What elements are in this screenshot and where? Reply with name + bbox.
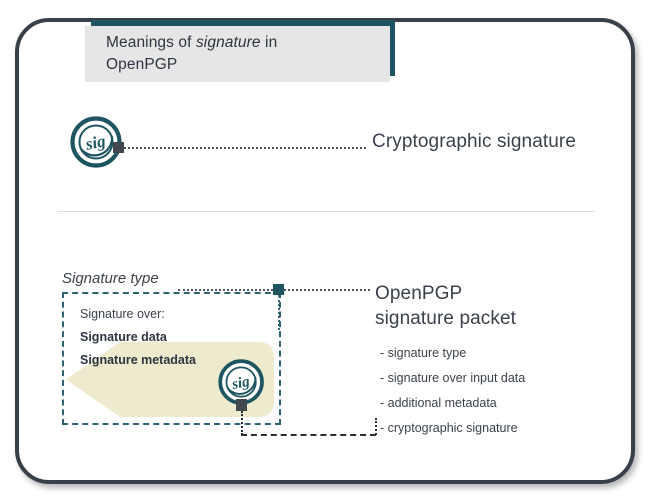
sig-seal-tab-top bbox=[113, 142, 124, 153]
title-emphasis: signature bbox=[196, 34, 261, 51]
connector-packet-right bbox=[241, 434, 376, 436]
connector-packet-up bbox=[375, 418, 377, 435]
packet-item: - cryptographic signature bbox=[380, 416, 525, 441]
box-line-2: Signature metadata bbox=[80, 349, 196, 372]
title-prefix: Meanings of bbox=[106, 34, 196, 51]
sig-seal-tab-bottom bbox=[236, 399, 247, 411]
packet-item-list: - signature type - signature over input … bbox=[380, 341, 525, 441]
packet-title: OpenPGP signature packet bbox=[375, 281, 516, 332]
connector-packet-down bbox=[241, 411, 243, 435]
connector-node-down bbox=[278, 295, 280, 330]
packet-item: - signature type bbox=[380, 341, 525, 366]
box-line-1: Signature data bbox=[80, 326, 196, 349]
label-signature-type: Signature type bbox=[62, 270, 159, 287]
connector-node-square bbox=[273, 284, 284, 295]
label-cryptographic-signature: Cryptographic signature bbox=[372, 131, 576, 153]
packet-item: - signature over input data bbox=[380, 366, 525, 391]
box-line-0: Signature over: bbox=[80, 303, 196, 326]
page-title: Meanings of signature in OpenPGP bbox=[85, 32, 277, 76]
section-divider bbox=[58, 211, 595, 212]
packet-title-line1: OpenPGP bbox=[375, 283, 462, 304]
signature-box-text: Signature over: Signature data Signature… bbox=[80, 303, 196, 372]
title-suffix: in bbox=[261, 34, 278, 51]
connector-node-left bbox=[178, 289, 273, 291]
packet-item: - additional metadata bbox=[380, 391, 525, 416]
svg-text:sig: sig bbox=[83, 131, 108, 154]
title-box: Meanings of signature in OpenPGP bbox=[85, 26, 390, 82]
connector-node-right bbox=[284, 289, 370, 291]
title-line2: OpenPGP bbox=[106, 56, 177, 73]
slide-canvas: Meanings of signature in OpenPGP sig Cry… bbox=[0, 0, 650, 501]
connector-crypto-signature bbox=[124, 147, 366, 149]
packet-title-line2: signature packet bbox=[375, 308, 516, 329]
